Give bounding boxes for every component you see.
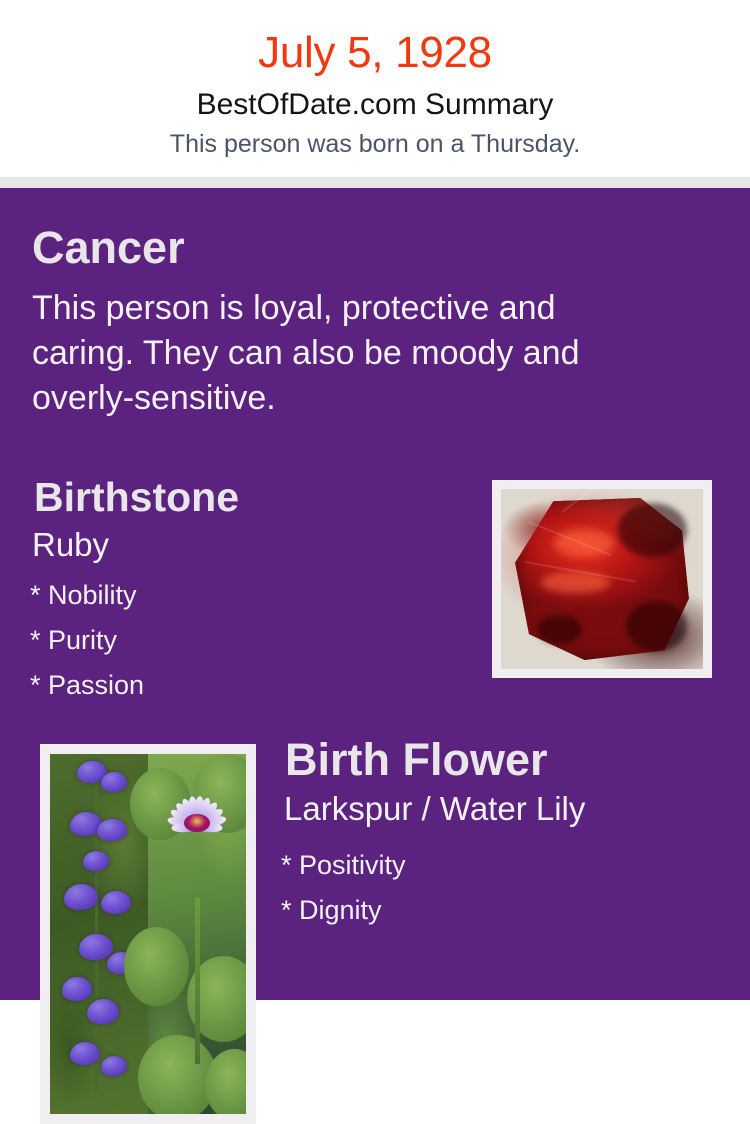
ruby-shadow-1 — [618, 503, 687, 557]
larkspur-bloom — [62, 977, 92, 1001]
larkspur-bloom — [87, 999, 119, 1024]
ruby-shadow-3 — [537, 615, 581, 644]
larkspur-bloom — [83, 851, 109, 871]
ruby-photo — [501, 489, 703, 669]
birth-flower-name: Larkspur / Water Lily — [284, 789, 585, 829]
larkspur-bloom — [70, 1042, 100, 1065]
zodiac-sign-heading: Cancer — [32, 222, 185, 274]
lily-flower-center — [184, 814, 210, 832]
list-item: * Nobility — [30, 573, 450, 618]
birth-flower-image-frame — [40, 744, 256, 1124]
site-summary-label: BestOfDate.com Summary — [0, 87, 750, 123]
birthstone-name: Ruby — [32, 525, 109, 565]
list-item: * Purity — [30, 618, 450, 663]
list-item: * Positivity — [281, 843, 701, 888]
water-lily-stem — [195, 898, 200, 1064]
larkspur-bloom — [64, 884, 98, 910]
zodiac-description: This person is loyal, protective and car… — [32, 286, 652, 421]
header-panel: July 5, 1928 BestOfDate.com Summary This… — [0, 0, 750, 177]
lily-pad — [124, 927, 189, 1006]
summary-body-panel: Cancer This person is loyal, protective … — [0, 188, 750, 1000]
lily-pad — [138, 1035, 216, 1114]
header-divider — [0, 177, 750, 188]
list-item: * Dignity — [281, 888, 701, 933]
page-title: July 5, 1928 — [0, 26, 750, 80]
list-item: * Passion — [30, 663, 450, 708]
larkspur-bloom — [101, 772, 127, 792]
birth-flower-photo-pair — [50, 754, 246, 1114]
birthstone-heading: Birthstone — [34, 473, 239, 521]
larkspur-bloom — [101, 1056, 127, 1076]
larkspur-bloom — [97, 819, 127, 841]
born-day-note: This person was born on a Thursday. — [0, 129, 750, 160]
birthstone-traits-list: * Nobility * Purity * Passion — [30, 573, 450, 708]
birthstone-image-frame — [492, 480, 712, 678]
water-lily-photo — [148, 754, 246, 1114]
birth-flower-traits-list: * Positivity * Dignity — [281, 843, 701, 933]
ruby-shadow-2 — [626, 601, 687, 651]
larkspur-bloom — [101, 891, 131, 914]
birth-flower-heading: Birth Flower — [285, 734, 548, 786]
larkspur-bloom — [79, 934, 113, 960]
